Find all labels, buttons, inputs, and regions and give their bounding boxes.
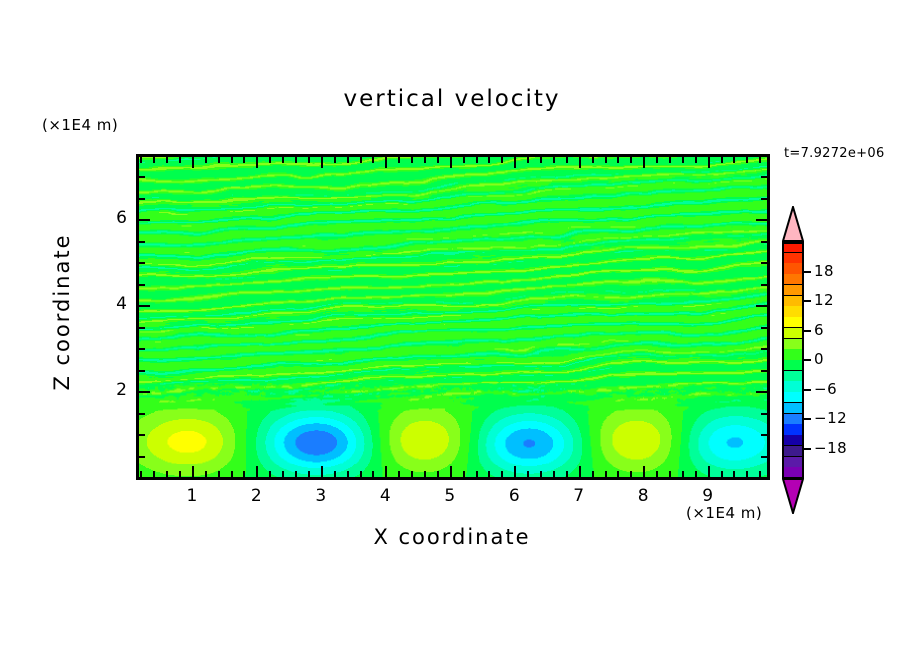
y-axis-unit-label: (×1E4 m) [42, 116, 118, 134]
x-tick-label: 1 [172, 486, 212, 506]
velocity-field-heatmap [139, 157, 767, 477]
x-tick-label: 8 [623, 486, 663, 506]
colorbar-band [782, 263, 804, 274]
y-axis-title: Z coordinate [50, 202, 74, 422]
colorbar-band [782, 339, 804, 350]
colorbar-tick [804, 359, 811, 361]
colorbar-band [782, 403, 804, 414]
x-tick-label: 7 [559, 486, 599, 506]
x-tick-label: 2 [236, 486, 276, 506]
colorbar-band [782, 457, 804, 468]
colorbar-tick [804, 300, 811, 302]
colorbar-tick [804, 330, 811, 332]
colorbar-band [782, 381, 804, 392]
z-tick-label: 4 [97, 294, 127, 314]
colorbar-band [782, 349, 804, 360]
colorbar-band [782, 360, 804, 371]
colorbar-band [782, 285, 804, 296]
x-axis-title: X coordinate [0, 525, 904, 549]
contour-plot-area[interactable] [136, 154, 770, 480]
x-axis-unit-label: (×1E4 m) [686, 504, 762, 522]
colorbar-band [782, 467, 804, 478]
page-title: vertical velocity [0, 86, 904, 112]
colorbar-tick [804, 271, 811, 273]
colorbar-tick-label: −18 [814, 439, 847, 457]
colorbar-band [782, 253, 804, 264]
colorbar-tick [804, 389, 811, 391]
colorbar-tick-label: −6 [814, 380, 837, 398]
colorbar-band [782, 424, 804, 435]
x-tick-label: 4 [365, 486, 405, 506]
z-tick-label: 2 [97, 380, 127, 400]
colorbar-band [782, 274, 804, 285]
colorbar-band [782, 435, 804, 446]
z-tick-label: 6 [97, 208, 127, 228]
colorbar[interactable] [782, 242, 804, 478]
colorbar-tick-label: 6 [814, 321, 824, 339]
colorbar-band [782, 328, 804, 339]
colorbar-tick-label: 18 [814, 262, 834, 280]
colorbar-band [782, 306, 804, 317]
colorbar-tick [804, 448, 811, 450]
colorbar-band [782, 371, 804, 382]
x-tick-label: 9 [688, 486, 728, 506]
colorbar-band [782, 414, 804, 425]
x-tick-label: 3 [301, 486, 341, 506]
colorbar-band [782, 296, 804, 307]
colorbar-tick-label: 12 [814, 291, 834, 309]
colorbar-tick-label: −12 [814, 409, 847, 427]
timestamp-annotation: t=7.9272e+06 [784, 146, 885, 161]
x-tick-label: 5 [430, 486, 470, 506]
colorbar-band [782, 392, 804, 403]
colorbar-tick [804, 418, 811, 420]
colorbar-over-arrow [782, 206, 804, 242]
x-tick-label: 6 [494, 486, 534, 506]
colorbar-band [782, 446, 804, 457]
colorbar-band [782, 317, 804, 328]
colorbar-band [782, 242, 804, 253]
colorbar-under-arrow [782, 478, 804, 514]
colorbar-tick-label: 0 [814, 350, 824, 368]
